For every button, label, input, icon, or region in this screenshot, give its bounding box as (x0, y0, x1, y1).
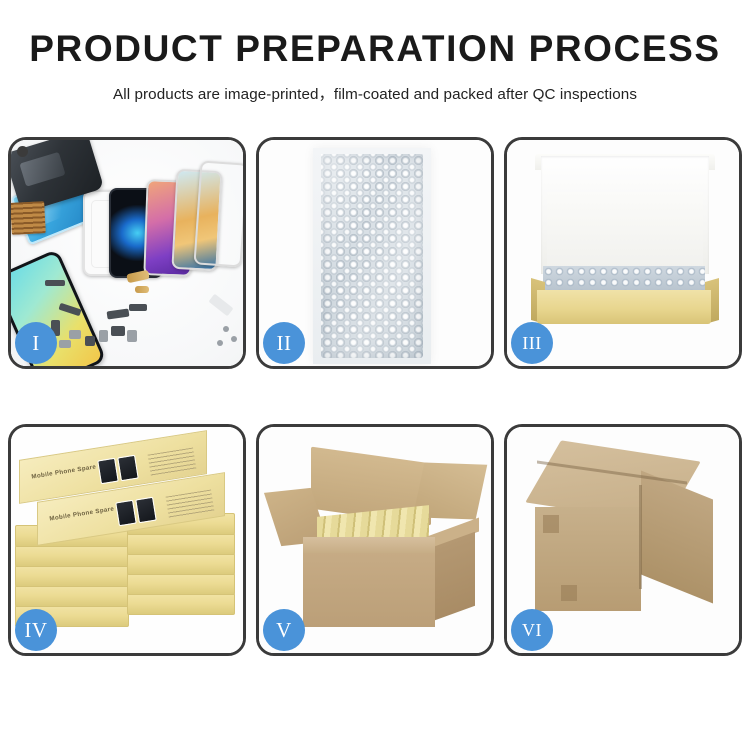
small-part (45, 280, 65, 286)
step-badge-1: I (15, 322, 57, 364)
retail-box (127, 533, 235, 555)
carton-edge-seam (639, 485, 642, 589)
page-header: PRODUCT PREPARATION PROCESS All products… (0, 0, 750, 104)
phone-teal (193, 160, 243, 267)
page-subtitle: All products are image-printed，film-coat… (0, 82, 750, 104)
screw-part (223, 326, 229, 332)
step-badge-4: IV (15, 609, 57, 651)
carton-tape-patch (561, 585, 577, 601)
flex-cable-part (129, 304, 147, 311)
retail-box (15, 585, 129, 607)
panel-retail-boxes[interactable]: Mobile Phone Spare Parts Mobile Phone Sp… (8, 424, 246, 656)
process-step-grid: I II III (8, 137, 742, 656)
retail-box (15, 565, 129, 587)
box-front-panel (537, 290, 711, 324)
small-part (59, 340, 71, 348)
retail-box (127, 593, 235, 615)
bracket-part (85, 336, 95, 346)
panel-inner-box[interactable]: III (504, 137, 742, 369)
camera-part (111, 326, 125, 336)
carton-side-panel (435, 532, 475, 621)
box-screen-image (135, 497, 157, 524)
step-badge-2: II (263, 322, 305, 364)
page-title: PRODUCT PREPARATION PROCESS (0, 30, 750, 69)
panel-open-carton[interactable]: V (256, 424, 494, 656)
retail-box (127, 573, 235, 595)
foam-padding (547, 192, 703, 268)
box-screen-image (117, 455, 139, 482)
box-screen-image (115, 500, 137, 527)
panel-bubble-wrap[interactable]: II (256, 137, 494, 369)
screw-part (217, 340, 223, 346)
carton-front-panel (303, 553, 435, 627)
box-screen-image (97, 458, 119, 485)
flex-cable-part (135, 286, 149, 293)
retail-box (127, 553, 235, 575)
panel-sealed-carton[interactable]: VI (504, 424, 742, 656)
screw-part (231, 336, 237, 342)
step-badge-6: VI (511, 609, 553, 651)
chip-grid-part (11, 201, 46, 235)
step-badge-5: V (263, 609, 305, 651)
plastic-sheen (321, 154, 423, 358)
retail-box (15, 545, 129, 567)
step-badge-3: III (511, 322, 553, 364)
battery-connector-part (127, 330, 137, 342)
bracket-part (69, 330, 81, 339)
carton-tape-patch (543, 515, 559, 533)
bracket-part (99, 330, 108, 342)
panel-products[interactable]: I (8, 137, 246, 369)
